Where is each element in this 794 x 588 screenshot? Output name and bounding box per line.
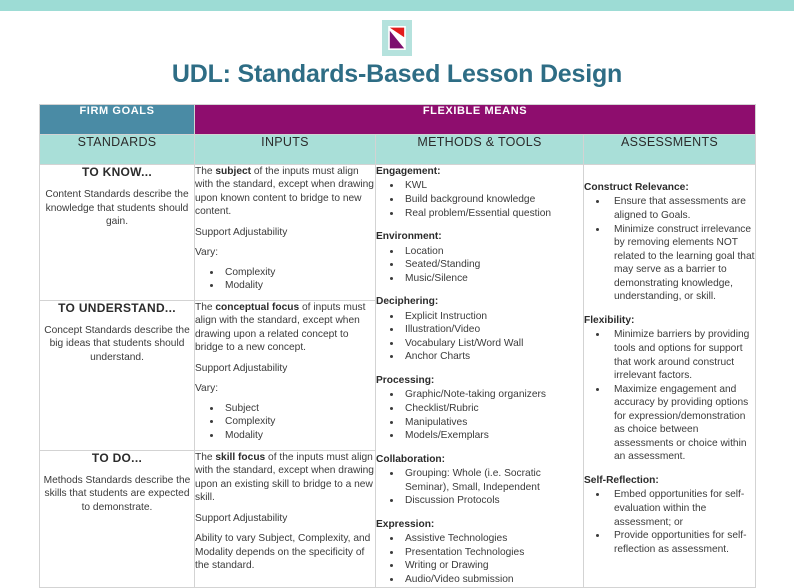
standards-cell-to-understand: TO UNDERSTAND... Concept Standards descr… [40, 300, 195, 450]
list-item: Manipulatives [402, 416, 583, 430]
standard-description: Content Standards describe the knowledge… [40, 188, 194, 229]
methods-group-collaboration: Collaboration: Grouping: Whole (i.e. Soc… [376, 453, 583, 508]
inputs-lead-pre: The [195, 452, 215, 463]
group-list: Assistive Technologies Presentation Tech… [376, 532, 583, 586]
inputs-vary-list: Complexity Modality [195, 266, 375, 293]
standard-description: Concept Standards describe the big ideas… [40, 324, 194, 365]
n-letter-logo-icon [382, 20, 412, 56]
header-flexible-means: FLEXIBLE MEANS [195, 105, 756, 135]
group-list: Minimize barriers by providing tools and… [584, 328, 755, 464]
methods-group-expression: Expression: Assistive Technologies Prese… [376, 518, 583, 587]
list-item: Complexity [222, 415, 375, 429]
list-item: Real problem/Essential question [402, 207, 583, 221]
group-label: Processing: [376, 374, 583, 387]
inputs-vary-label: Vary: [195, 246, 375, 259]
list-item: Maximize engagement and accuracy by prov… [608, 383, 755, 464]
table-row: TO KNOW... Content Standards describe th… [40, 165, 756, 301]
inputs-lead-bold: skill focus [215, 452, 265, 463]
list-item: Graphic/Note-taking organizers [402, 388, 583, 402]
inputs-support-label: Support Adjustability [195, 512, 375, 525]
list-item: Modality [222, 279, 375, 293]
udl-matrix-table: FIRM GOALS FLEXIBLE MEANS STANDARDS INPU… [39, 104, 756, 588]
list-item: Seated/Standing [402, 258, 583, 272]
inputs-vary-list: Subject Complexity Modality [195, 402, 375, 443]
standards-cell-to-do: TO DO... Methods Standards describe the … [40, 450, 195, 587]
standard-title: TO DO... [40, 451, 194, 467]
inputs-cell-to-do: The skill focus of the inputs must align… [195, 450, 376, 587]
page-title: UDL: Standards-Based Lesson Design [0, 60, 794, 89]
methods-tools-cell: Engagement: KWL Build background knowled… [376, 165, 584, 588]
group-label: Expression: [376, 518, 583, 531]
group-label: Self-Reflection: [584, 474, 755, 487]
inputs-lead-paragraph: The skill focus of the inputs must align… [195, 451, 375, 505]
group-label: Environment: [376, 230, 583, 243]
group-list: KWL Build background knowledge Real prob… [376, 179, 583, 220]
methods-group-deciphering: Deciphering: Explicit Instruction Illust… [376, 295, 583, 364]
list-item: Anchor Charts [402, 350, 583, 364]
inputs-support-label: Support Adjustability [195, 362, 375, 375]
inputs-vary-label: Vary: [195, 382, 375, 395]
group-list: Explicit Instruction Illustration/Video … [376, 310, 583, 364]
methods-group-processing: Processing: Graphic/Note-taking organize… [376, 374, 583, 443]
methods-group-engagement: Engagement: KWL Build background knowled… [376, 165, 583, 220]
list-item: Vocabulary List/Word Wall [402, 337, 583, 351]
list-item: Embed opportunities for self-evaluation … [608, 488, 755, 529]
group-label: Engagement: [376, 165, 583, 178]
standard-title: TO UNDERSTAND... [40, 301, 194, 317]
group-label: Construct Relevance: [584, 181, 755, 194]
inputs-lead-pre: The [195, 302, 215, 313]
logo-container [0, 20, 794, 56]
band-header-row: FIRM GOALS FLEXIBLE MEANS [40, 105, 756, 135]
list-item: Illustration/Video [402, 323, 583, 337]
assessments-cell: Construct Relevance: Ensure that assessm… [584, 165, 756, 588]
list-item: Assistive Technologies [402, 532, 583, 546]
list-item: Models/Exemplars [402, 429, 583, 443]
column-header-methods-tools: METHODS & TOOLS [376, 135, 584, 165]
inputs-lead-bold: subject [215, 166, 251, 177]
group-list: Ensure that assessments are aligned to G… [584, 195, 755, 304]
list-item: Minimize construct irrelevance by removi… [608, 223, 755, 304]
list-item: Presentation Technologies [402, 546, 583, 560]
list-item: Modality [222, 429, 375, 443]
inputs-cell-to-know: The subject of the inputs must align wit… [195, 165, 376, 301]
list-item: Complexity [222, 266, 375, 280]
list-item: Ensure that assessments are aligned to G… [608, 195, 755, 222]
group-list: Embed opportunities for self-evaluation … [584, 488, 755, 556]
methods-group-environment: Environment: Location Seated/Standing Mu… [376, 230, 583, 285]
group-list: Graphic/Note-taking organizers Checklist… [376, 388, 583, 442]
header-firm-goals: FIRM GOALS [40, 105, 195, 135]
inputs-support-label: Support Adjustability [195, 226, 375, 239]
standard-title: TO KNOW... [40, 165, 194, 181]
top-accent-band [0, 0, 794, 11]
inputs-note: Ability to vary Subject, Complexity, and… [195, 532, 375, 572]
list-item: Provide opportunities for self-reflectio… [608, 529, 755, 556]
inputs-lead-pre: The [195, 166, 215, 177]
list-item: KWL [402, 179, 583, 193]
list-item: Grouping: Whole (i.e. Socratic Seminar),… [402, 467, 583, 494]
group-label: Deciphering: [376, 295, 583, 308]
inputs-lead-paragraph: The conceptual focus of inputs must alig… [195, 301, 375, 355]
column-header-row: STANDARDS INPUTS METHODS & TOOLS ASSESSM… [40, 135, 756, 165]
column-header-assessments: ASSESSMENTS [584, 135, 756, 165]
assessments-group-construct-relevance: Construct Relevance: Ensure that assessm… [584, 181, 755, 304]
list-item: Audio/Video submission [402, 573, 583, 587]
list-item: Minimize barriers by providing tools and… [608, 328, 755, 382]
group-list: Location Seated/Standing Music/Silence [376, 245, 583, 286]
column-header-standards: STANDARDS [40, 135, 195, 165]
standard-description: Methods Standards describe the skills th… [40, 474, 194, 515]
list-item: Discussion Protocols [402, 494, 583, 508]
list-item: Checklist/Rubric [402, 402, 583, 416]
list-item: Writing or Drawing [402, 559, 583, 573]
standards-cell-to-know: TO KNOW... Content Standards describe th… [40, 165, 195, 301]
group-list: Grouping: Whole (i.e. Socratic Seminar),… [376, 467, 583, 508]
column-header-inputs: INPUTS [195, 135, 376, 165]
group-label: Flexibility: [584, 314, 755, 327]
list-item: Subject [222, 402, 375, 416]
group-label: Collaboration: [376, 453, 583, 466]
list-item: Build background knowledge [402, 193, 583, 207]
inputs-cell-to-understand: The conceptual focus of inputs must alig… [195, 300, 376, 450]
list-item: Location [402, 245, 583, 259]
inputs-lead-bold: conceptual focus [215, 302, 299, 313]
assessments-group-flexibility: Flexibility: Minimize barriers by provid… [584, 314, 755, 464]
list-item: Explicit Instruction [402, 310, 583, 324]
inputs-lead-paragraph: The subject of the inputs must align wit… [195, 165, 375, 219]
list-item: Music/Silence [402, 272, 583, 286]
assessments-group-self-reflection: Self-Reflection: Embed opportunities for… [584, 474, 755, 556]
